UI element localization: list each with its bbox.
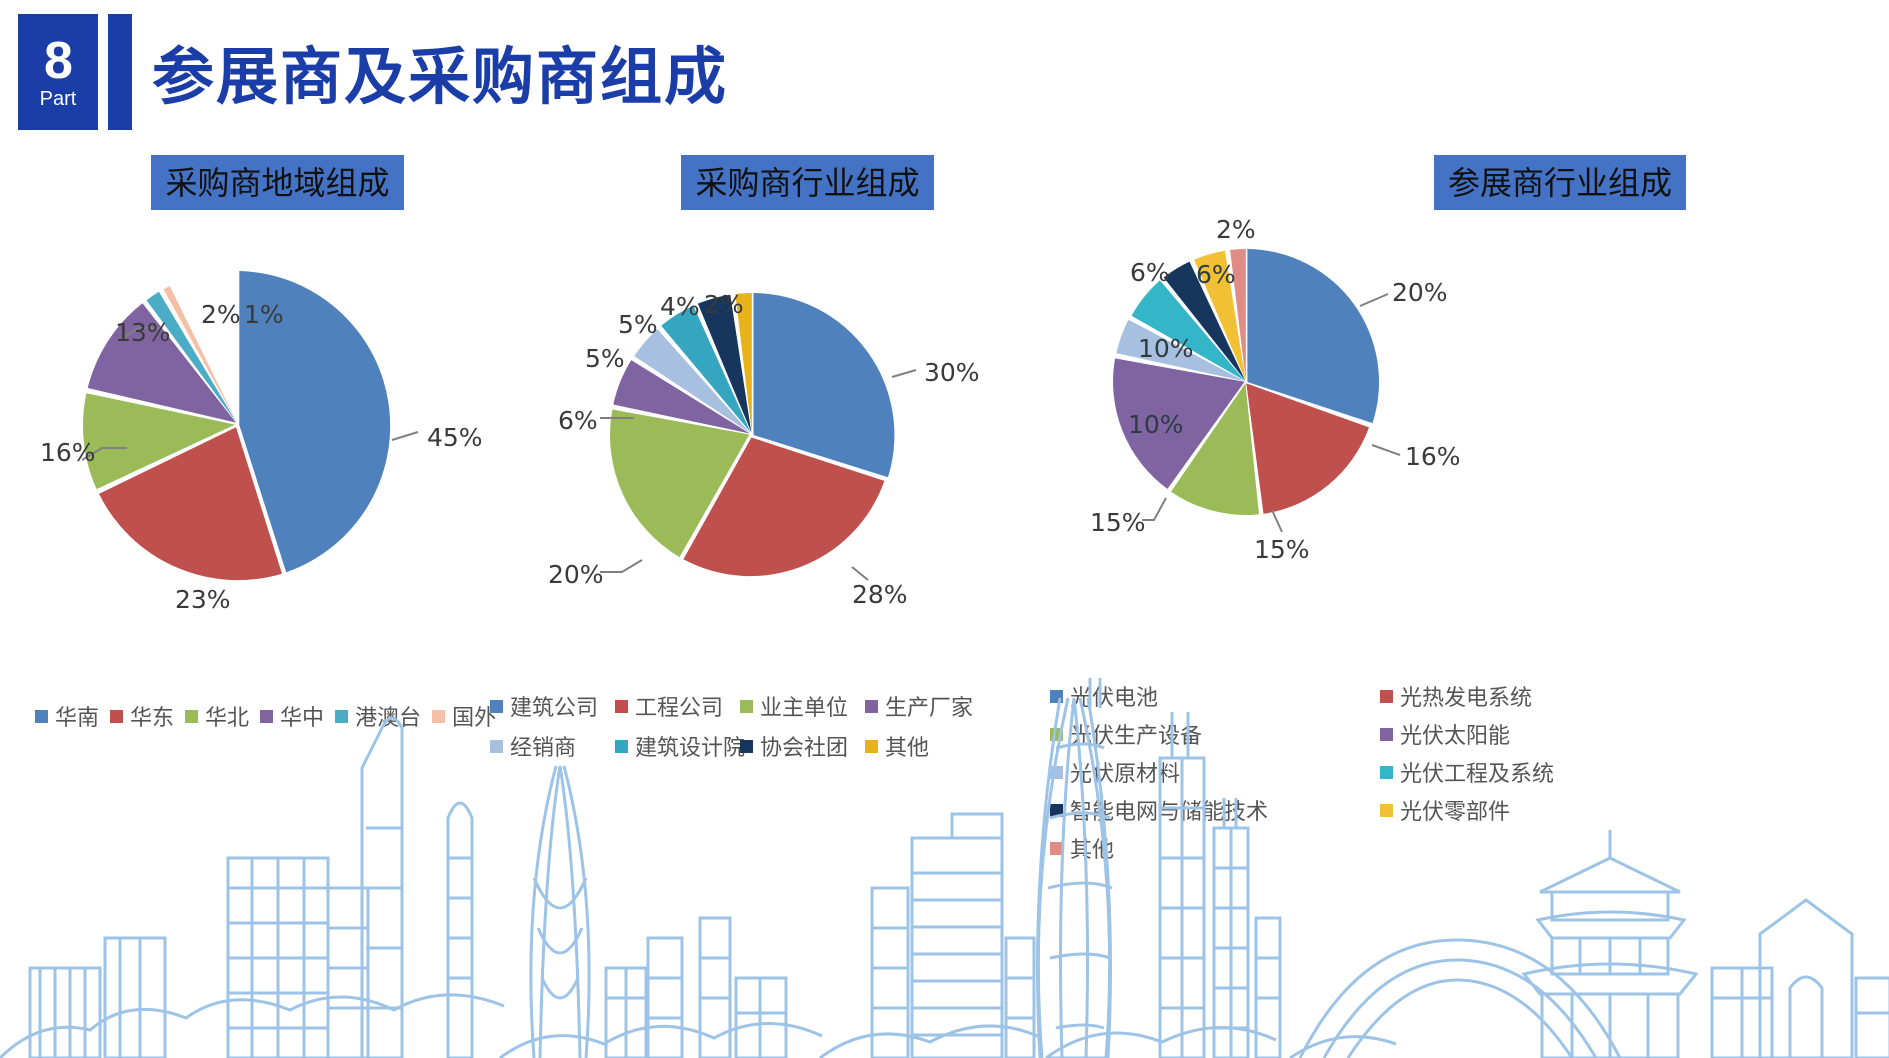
chart2-title-row: 采购商行业组成 — [500, 155, 1060, 210]
leader-line-30 — [892, 370, 916, 377]
chart2-title: 采购商行业组成 — [681, 155, 933, 210]
chart1-label-16: 16% — [40, 438, 96, 467]
leader-line-20 — [1360, 294, 1388, 306]
chart3-label-10a: 10% — [1128, 410, 1184, 439]
chart1-title: 采购商地域组成 — [151, 155, 403, 210]
chart1-title-row: 采购商地域组成 — [20, 155, 520, 210]
chart2-pie-wrap: 30% 28% 20% 6% 5% 5% 4% 2% — [500, 210, 1060, 630]
leader-line-15b — [1272, 510, 1282, 532]
chart1-label-23: 23% — [175, 585, 231, 614]
chart2-label-4: 4% — [660, 292, 700, 321]
chart1-label-2: 2% — [201, 300, 241, 329]
chart2-label-5b: 5% — [618, 310, 658, 339]
chart2-label-2: 2% — [704, 290, 744, 319]
leader-line-15a — [1142, 498, 1166, 520]
chart3-label-20: 20% — [1392, 278, 1448, 307]
part-number: 8 — [44, 35, 72, 87]
chart1-label-13: 13% — [115, 318, 171, 347]
leader-line-20 — [600, 560, 642, 572]
city-skyline-icon — [0, 638, 1889, 1058]
part-word: Part — [40, 89, 77, 109]
chart-purchaser-region: 采购商地域组成 45% 23% 16% — [20, 155, 520, 630]
chart2-label-5a: 5% — [585, 344, 625, 373]
chart2-label-30: 30% — [924, 358, 980, 387]
chart1-label-1: 1% — [244, 300, 284, 329]
chart3-label-10b: 10% — [1138, 334, 1194, 363]
chart3-label-2: 2% — [1216, 215, 1256, 244]
chart1-pie — [20, 210, 520, 630]
leader-line-16 — [1372, 445, 1400, 455]
chart3-label-6a: 6% — [1130, 258, 1170, 287]
chart3-label-16: 16% — [1405, 442, 1461, 471]
chart2-label-28: 28% — [852, 580, 908, 609]
part-badge: 8 Part — [18, 14, 98, 130]
chart-exhibitor-industry: 参展商行业组成 — [1050, 155, 1880, 610]
chart2-label-20: 20% — [548, 560, 604, 589]
page-header: 8 Part 参展商及采购商组成 — [0, 0, 1889, 150]
leader-line-45 — [392, 432, 418, 440]
chart1-label-45: 45% — [427, 423, 483, 452]
chart3-label-15a: 15% — [1090, 508, 1146, 537]
chart3-label-6b: 6% — [1196, 260, 1236, 289]
chart3-title-row: 参展商行业组成 — [1050, 155, 1880, 210]
page-title: 参展商及采购商组成 — [152, 26, 728, 116]
chart-purchaser-industry: 采购商行业组成 — [500, 155, 1060, 630]
chart3-title: 参展商行业组成 — [1434, 155, 1686, 210]
chart2-label-6: 6% — [558, 406, 598, 435]
badge-accent-bar — [108, 14, 132, 130]
chart3-label-15b: 15% — [1254, 535, 1310, 564]
chart1-pie-wrap: 45% 23% 16% 13% 2% 1% — [20, 210, 520, 630]
chart3-pie-wrap: 20% 16% 15% 15% 10% 10% 6% 6% 2% — [1050, 210, 1880, 610]
leader-line-28 — [852, 567, 868, 580]
